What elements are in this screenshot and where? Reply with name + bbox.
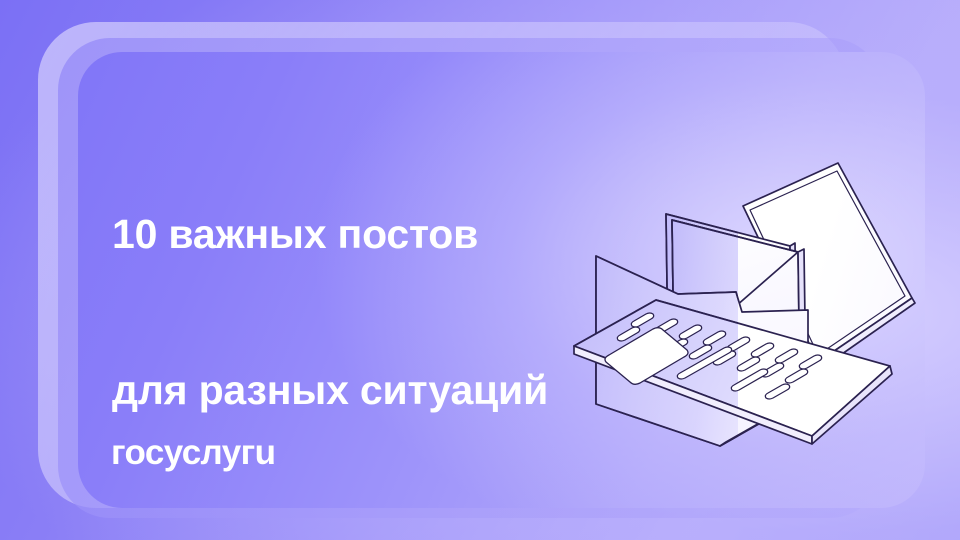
gosuslugi-logo: госуслугu — [111, 433, 275, 473]
headline-line-1: 10 важных постов — [112, 208, 548, 260]
promo-banner: 10 важных постов для разных ситуаций гос… — [0, 0, 960, 540]
laptop-folder-illustration — [560, 150, 940, 450]
headline-line-2: для разных ситуаций — [112, 364, 548, 416]
